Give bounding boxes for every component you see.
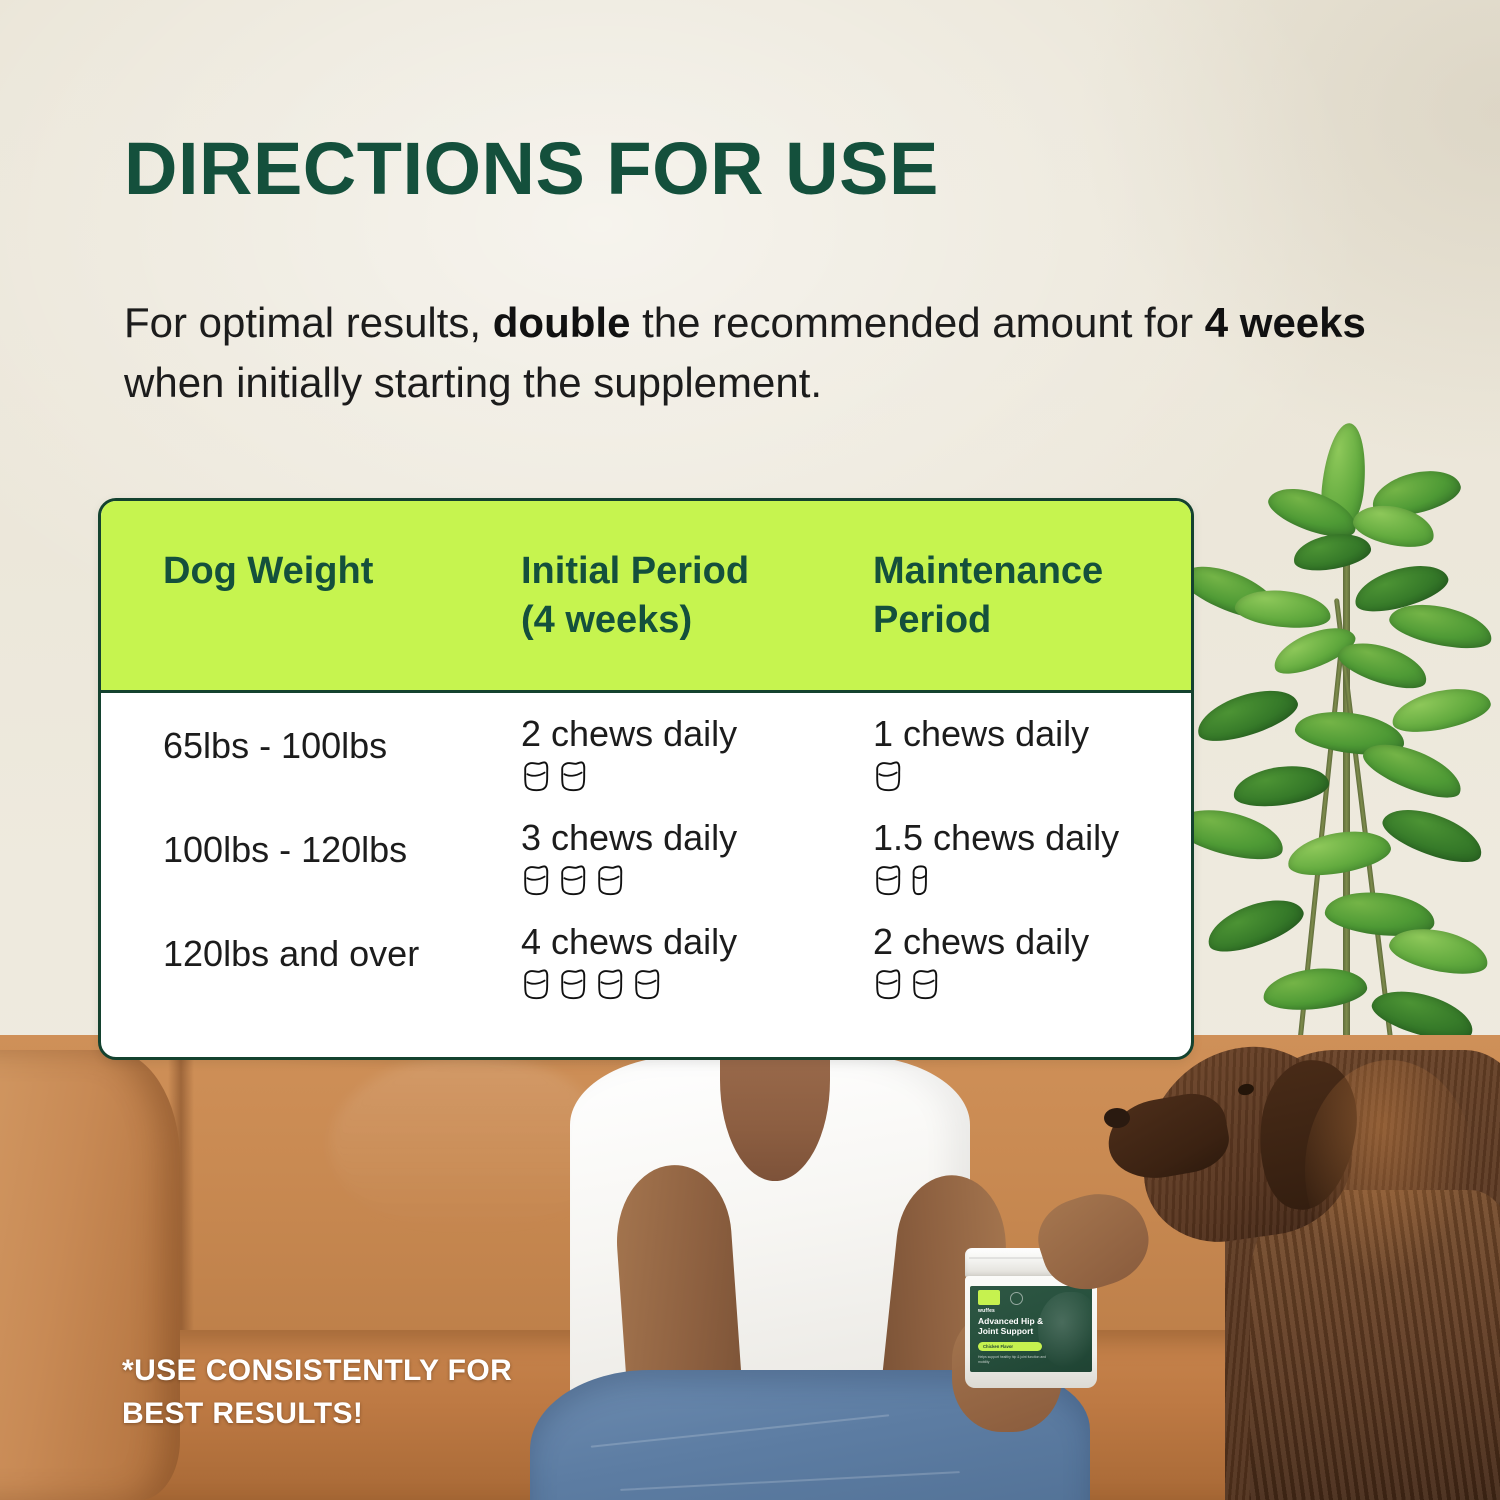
cell-initial-period: 2 chews daily [521,713,737,793]
chew-icon [558,967,588,1001]
chew-icon [873,863,903,897]
dog [1130,1040,1500,1500]
cell-maintenance-period: 1.5 chews daily [873,817,1119,897]
table-body: 65lbs - 100lbs2 chews daily1 chews daily… [101,693,1191,1011]
jar-seal-icon [1010,1292,1023,1305]
chew-icon [595,863,625,897]
table-row: 65lbs - 100lbs2 chews daily1 chews daily [101,699,1191,803]
column-header-maintenance-period-line1: Maintenance [873,547,1183,596]
cell-maintenance-period: 2 chews daily [873,921,1089,1001]
column-header-maintenance-period: Maintenance Period [873,547,1183,644]
subtitle: For optimal results, double the recommen… [124,293,1384,412]
chew-icon [521,967,551,1001]
cell-dog-weight: 65lbs - 100lbs [163,725,387,767]
jar-title: Advanced Hip & Joint Support [978,1317,1062,1337]
table-header-row: Dog Weight Initial Period (4 weeks) Main… [101,501,1191,693]
subtitle-bold-weeks: 4 weeks [1205,299,1366,346]
column-header-dog-weight: Dog Weight [163,547,493,596]
cell-maintenance-period: 1 chews daily [873,713,1089,793]
jar-flavor-text: Chicken Flavor [983,1344,1013,1349]
cell-initial-period: 3 chews daily [521,817,737,897]
dosage-table: Dog Weight Initial Period (4 weeks) Main… [98,498,1194,1060]
subtitle-part3: when initially starting the supplement. [124,359,822,406]
footnote-line-1: *USE CONSISTENTLY FOR [122,1350,512,1393]
dog-fur-highlight [1305,1060,1475,1280]
cell-dog-weight: 100lbs - 120lbs [163,829,407,871]
half-chew-icon [910,863,929,897]
chew-icon [873,967,903,1001]
footnote-line-2: BEST RESULTS! [122,1393,512,1436]
chew-icon [910,967,940,1001]
table-row: 120lbs and over4 chews daily2 chews dail… [101,907,1191,1011]
column-header-initial-period: Initial Period (4 weeks) [521,547,851,644]
chew-icon-group [521,863,737,897]
cell-initial-period: 4 chews daily [521,921,737,1001]
chew-icon [632,967,662,1001]
column-header-initial-period-line1: Initial Period [521,547,851,596]
jar-fine-print: Helps support healthy hip & joint functi… [978,1355,1056,1365]
chew-icon-group [521,759,737,793]
jar-badge-icon [978,1290,1000,1305]
subtitle-part1: For optimal results, [124,299,493,346]
cell-dog-weight: 120lbs and over [163,933,419,975]
chew-icon-group [873,967,1089,1001]
chew-icon [558,759,588,793]
column-header-initial-period-line2: (4 weeks) [521,596,851,645]
jar-flavor-pill: Chicken Flavor [978,1342,1042,1351]
chew-icon [521,863,551,897]
houseplant [1175,395,1500,1095]
directions-for-use-graphic: wuffes Advanced Hip & Joint Support Chic… [0,0,1500,1500]
chew-icon-group [873,863,1119,897]
table-row: 100lbs - 120lbs3 chews daily1.5 chews da… [101,803,1191,907]
chew-icon [595,967,625,1001]
footnote: *USE CONSISTENTLY FOR BEST RESULTS! [122,1350,512,1435]
column-header-maintenance-period-line2: Period [873,596,1183,645]
subtitle-bold-double: double [493,299,631,346]
chew-icon-group [873,759,1089,793]
subtitle-part2: the recommended amount for [630,299,1204,346]
jar-brand: wuffes [978,1308,995,1314]
page-title: DIRECTIONS FOR USE [124,132,939,206]
jar-label: wuffes Advanced Hip & Joint Support Chic… [970,1286,1092,1372]
chew-icon [873,759,903,793]
chew-icon [558,863,588,897]
dog-nose [1104,1108,1130,1128]
chew-icon [521,759,551,793]
chew-icon-group [521,967,737,1001]
